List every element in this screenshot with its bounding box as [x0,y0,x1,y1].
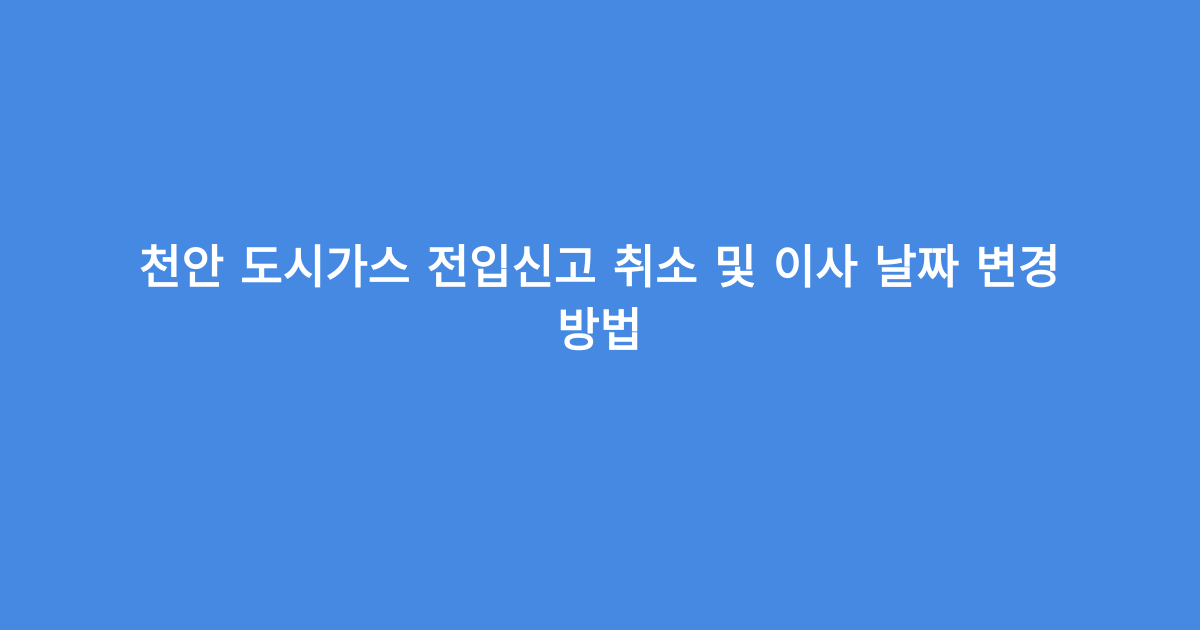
og-image-card: 천안 도시가스 전입신고 취소 및 이사 날짜 변경 방법 [0,0,1200,630]
title-block: 천안 도시가스 전입신고 취소 및 이사 날짜 변경 방법 [92,236,1108,361]
page-title: 천안 도시가스 전입신고 취소 및 이사 날짜 변경 방법 [92,236,1108,361]
